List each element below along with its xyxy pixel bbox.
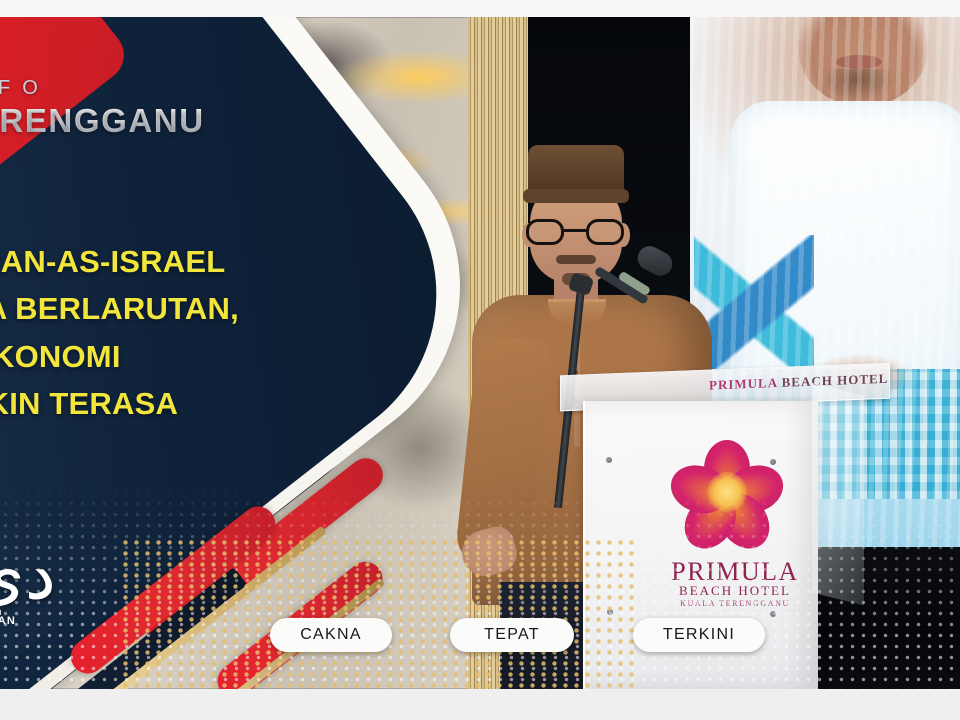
bottom-letterbox-strip	[0, 689, 960, 720]
speaker-moustache	[556, 255, 596, 264]
headline-line-2: GKA BERLARUTAN,	[0, 286, 358, 331]
speaker-songkok-cap	[528, 145, 624, 197]
podium-top-label: PRIMULA BEACH HOTEL	[709, 371, 888, 394]
podium-brand-location: KUALA TERENGGANU	[640, 599, 830, 608]
glasses-lens-right	[586, 219, 624, 245]
headline-line-1: K IRAN-AS-ISRAEL	[0, 239, 358, 284]
podium-top-label-primula: PRIMULA	[709, 375, 777, 393]
badge-tepat[interactable]: TEPAT	[450, 618, 574, 652]
top-letterbox-strip	[0, 0, 960, 17]
speaker-glasses	[524, 219, 628, 245]
podium-screw	[606, 457, 612, 463]
glasses-bridge	[564, 229, 586, 232]
brand-state-label: TERENGGANU	[0, 102, 284, 140]
badge-row: CAKNA TEPAT TERKINI	[0, 618, 960, 658]
podium-brand-subtitle: BEACH HOTEL	[640, 583, 830, 599]
headline-line-3: G EKONOMI	[0, 334, 358, 379]
headline-text: K IRAN-AS-ISRAEL GKA BERLARUTAN, G EKONO…	[0, 239, 358, 428]
podium-screw	[770, 611, 776, 617]
badge-cakna[interactable]: CAKNA	[270, 618, 392, 652]
headline-line-4: MAKIN TERASA	[0, 381, 358, 426]
podium-screw	[607, 609, 613, 615]
brand-info-label: INFO	[0, 77, 284, 100]
podium-top-label-hotel: BEACH HOTEL	[782, 371, 889, 390]
brand-wordmark: INFO TERENGGANU	[0, 77, 284, 140]
glasses-lens-left	[526, 219, 564, 245]
badge-terkini[interactable]: TERKINI	[633, 618, 765, 652]
primula-flower-logo	[672, 437, 782, 547]
flower-centre	[707, 472, 747, 512]
news-card: PRIMULA BEACH HOTEL PRIMULA BEACH HOTEL …	[0, 17, 960, 689]
screenshot-stage: PRIMULA BEACH HOTEL PRIMULA BEACH HOTEL …	[0, 0, 960, 720]
jawi-script-glyph: دي	[0, 537, 120, 617]
